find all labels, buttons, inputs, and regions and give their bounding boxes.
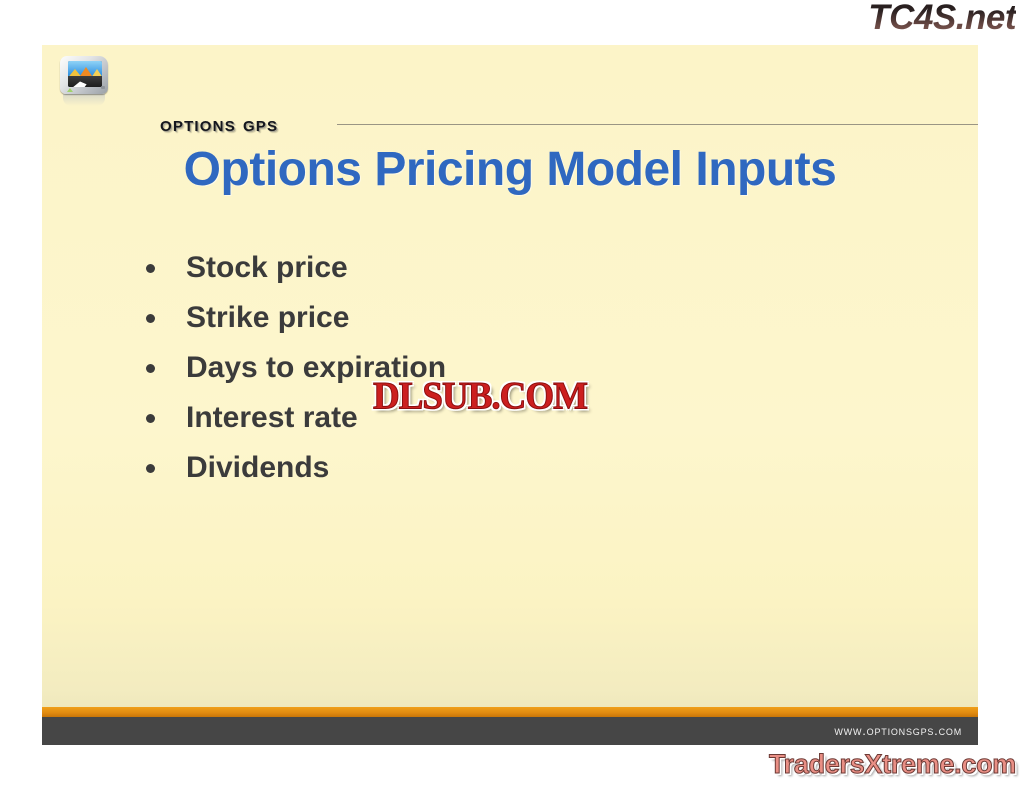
bullet-dot-icon	[146, 464, 155, 473]
logo-reflection	[63, 94, 105, 106]
list-item: Dividends	[138, 453, 898, 483]
logo-device-body	[60, 56, 108, 94]
header-divider-rule	[337, 124, 978, 125]
footer-site-url: www.OptionsGPS.com	[834, 723, 962, 738]
list-item-label: Interest rate	[186, 401, 358, 434]
logo-device-indicator	[67, 88, 73, 92]
dlsub-watermark: DLSUB.COM	[373, 374, 587, 419]
slide-header	[42, 45, 978, 107]
gps-device-icon	[58, 56, 110, 100]
bullet-dot-icon	[146, 364, 155, 373]
logo-device-button	[101, 86, 105, 89]
slide-title: Options Pricing Model Inputs	[42, 142, 978, 197]
bullet-dot-icon	[146, 314, 155, 323]
bullet-dot-icon	[146, 414, 155, 423]
list-item: Strike price	[138, 303, 898, 333]
footer-bar: www.OptionsGPS.com	[42, 717, 978, 745]
list-item-label: Stock price	[186, 251, 348, 284]
bullet-dot-icon	[146, 264, 155, 273]
options-gps-wordmark: Options GPS	[160, 113, 278, 137]
list-item-label: Dividends	[186, 451, 329, 484]
tradersxtreme-brand: TradersXtreme.com	[769, 749, 1016, 780]
footer-orange-band	[42, 707, 978, 717]
tc4s-site-brand: TC4S.net	[868, 0, 1016, 38]
presentation-slide: Options GPS Options Pricing Model Inputs…	[42, 45, 978, 745]
list-item: Stock price	[138, 253, 898, 283]
list-item-label: Strike price	[186, 301, 349, 334]
logo-device-screen	[68, 61, 102, 87]
